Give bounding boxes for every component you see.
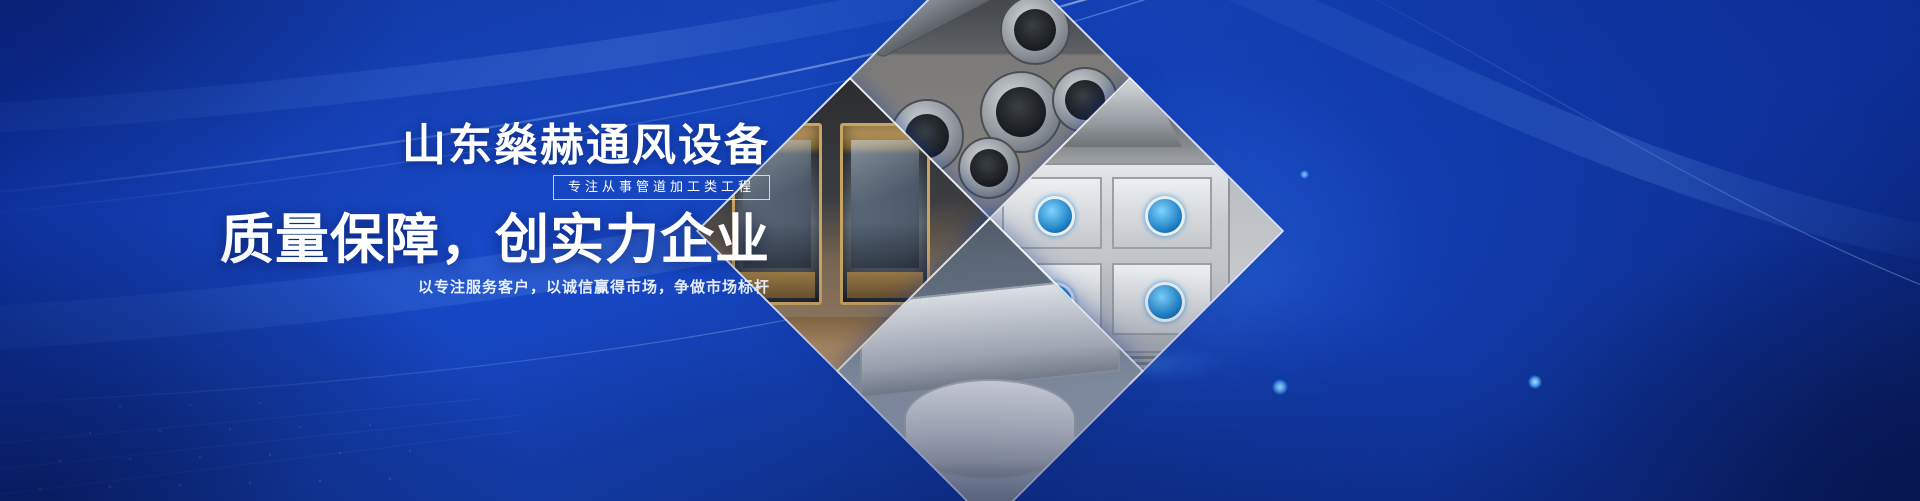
banner-text-block: 山东燊赫通风设备 专注从事管道加工类工程 质量保障，创实力企业 以专注服务客户，… — [0, 0, 800, 501]
diamond-photo-collage — [805, 18, 1275, 488]
hero-banner: 山东燊赫通风设备 专注从事管道加工类工程 质量保障，创实力企业 以专注服务客户，… — [0, 0, 1920, 501]
glow-dot — [1528, 375, 1542, 389]
main-headline: 质量保障，创实力企业 — [220, 213, 770, 267]
company-title: 山东燊赫通风设备 — [402, 124, 770, 168]
specialty-badge: 专注从事管道加工类工程 — [553, 175, 770, 200]
sub-tagline: 以专注服务客户，以诚信赢得市场，争做市场标杆 — [418, 276, 770, 297]
glow-dot — [1300, 170, 1309, 179]
badge-wrapper: 专注从事管道加工类工程 — [553, 175, 770, 200]
